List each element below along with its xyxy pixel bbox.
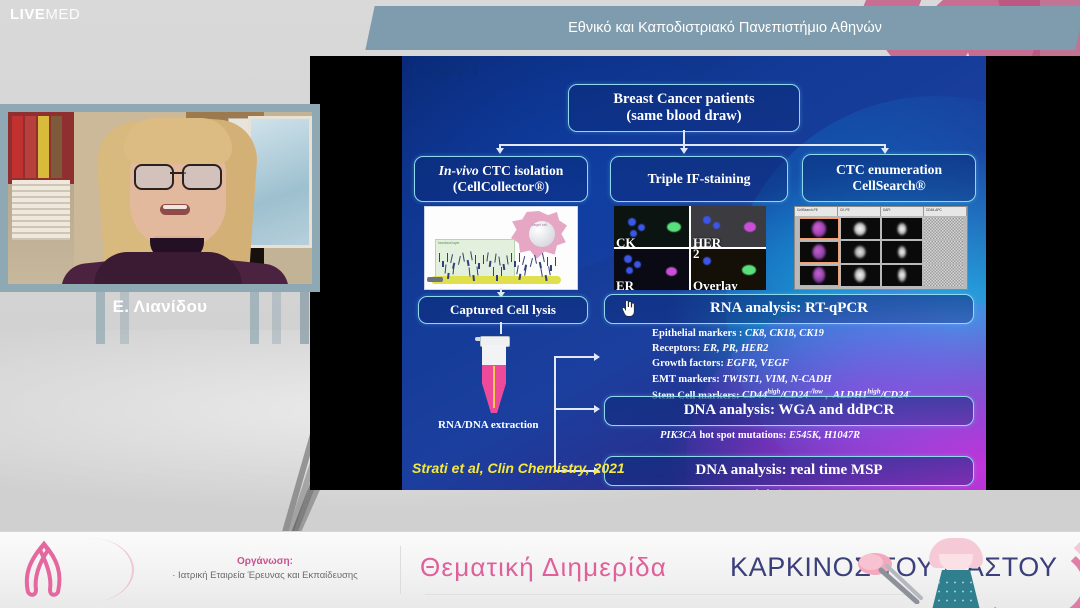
gallery-col-4: CD45-APC	[924, 207, 967, 216]
connector-lysis-tube	[500, 322, 502, 334]
presentation-slide: Figure 1 Breast Cancer patients (same bl…	[402, 56, 986, 490]
book	[51, 116, 62, 178]
hair-fringe	[124, 118, 232, 164]
tube-streak	[493, 366, 495, 408]
antibody-icon	[475, 255, 484, 264]
if-label-er: ER	[616, 279, 634, 290]
organizer-block: Οργάνωση: · Ιατρική Εταιρεία Έρευνας και…	[140, 554, 390, 583]
antibody-icon	[469, 267, 479, 277]
slide-viewport[interactable]: Figure 1 Breast Cancer patients (same bl…	[310, 56, 1080, 490]
dna-mutations: E545K, H1047R	[789, 430, 860, 441]
if-quadrant-her2: HER	[691, 206, 766, 247]
box-line-1-rest: CTC isolation	[479, 163, 564, 178]
dna-methylation-gene: ESR1	[799, 489, 824, 490]
illustration-caption-matrix: functional layer	[438, 241, 459, 245]
antibody-icon	[450, 254, 461, 265]
gallery-cell	[882, 241, 922, 262]
if-quadrant-ck: CK	[614, 206, 689, 247]
wire-tip	[427, 277, 443, 282]
gallery-cell	[924, 241, 964, 262]
connector-to-rna	[554, 356, 596, 358]
antibody-icon	[439, 253, 448, 262]
livemed-logo: LIVEMED	[10, 6, 80, 23]
connector-bus	[499, 144, 885, 146]
arrowhead-dna1	[594, 405, 600, 413]
if-staining-panel: CK HER ER 2	[614, 206, 766, 290]
antibody-icon	[534, 253, 545, 264]
illustration-caption-target: target cell	[532, 223, 547, 227]
dna-detail-1: PIK3CA hot spot mutations: E545K, H1047R	[660, 428, 860, 443]
box-emphasis: In-vivo	[439, 163, 479, 178]
gallery-header-row: CellSearch-PE CK-PE DAPI CD45-APC	[795, 207, 967, 216]
rna-detail-label: Growth factors:	[652, 358, 726, 369]
lens-left	[134, 164, 174, 190]
if-label-overlay: Overlay	[693, 279, 738, 290]
box-rna-label: RNA analysis: RT-qPCR	[710, 300, 868, 318]
rna-details: Epithelial markers : CK8, CK18, CK19 Rec…	[652, 326, 911, 404]
rna-detail-row: Growth factors: EGFR, VEGF	[652, 356, 911, 371]
antibody-icon	[547, 257, 556, 266]
rna-detail-row: Epithelial markers : CK8, CK18, CK19	[652, 326, 911, 341]
book	[25, 116, 36, 178]
eppendorf-tube-icon	[478, 336, 510, 416]
logo-live: LIVE	[10, 6, 45, 23]
antibody-icon	[516, 265, 526, 275]
antibody-icon	[493, 267, 502, 276]
box-line-2: (CellCollector®)	[453, 179, 549, 195]
banner-title-pink: Θεματική Διημερίδα	[420, 552, 667, 583]
logo-med: MED	[45, 6, 80, 23]
gallery-col-2: CK-PE	[838, 207, 881, 216]
dna-detail-2: DNA methylation: ESR1	[714, 487, 824, 490]
makeup-brush-icon	[855, 552, 925, 604]
dna-detail-text: hot spot mutations:	[697, 430, 789, 441]
connector-to-dna1	[554, 408, 596, 410]
if-quadrant-er: ER	[614, 249, 689, 290]
webcam-video[interactable]	[8, 112, 312, 284]
gallery-grid	[799, 218, 963, 286]
antibody-icon	[445, 265, 455, 275]
if-quadrant-overlay: 2 Overlay	[691, 249, 766, 290]
antibody-icon	[462, 251, 472, 261]
if-label-2: 2	[693, 249, 700, 260]
rna-dna-extraction-label: RNA/DNA extraction	[438, 418, 539, 434]
rna-detail-value: EGFR, VEGF	[726, 358, 788, 369]
hand-pointer-icon	[621, 300, 636, 317]
gallery-cell	[841, 218, 881, 239]
header-title: Εθνικό και Καποδιστριακό Πανεπιστήμιο Αθ…	[380, 6, 1070, 50]
antibody-icon	[540, 266, 550, 276]
slide-citation: Strati et al, Clin Chemistry, 2021	[412, 460, 625, 476]
box-line-1: In-vivo CTC isolation	[439, 163, 564, 179]
antibody-icon	[522, 256, 533, 267]
gallery-cell	[841, 241, 881, 262]
gallery-cell	[799, 218, 839, 239]
book	[12, 116, 23, 178]
box-dna-real-time-msp: DNA analysis: real time MSP	[604, 456, 974, 486]
book	[38, 116, 49, 178]
cellcollector-illustration: target cell functional layer	[424, 206, 578, 290]
banner-divider	[400, 546, 401, 594]
banner-underline	[425, 594, 910, 595]
box-rna-analysis: RNA analysis: RT-qPCR	[604, 294, 974, 324]
if-label-ck: CK	[616, 236, 636, 247]
woman-silhouette-icon	[62, 538, 134, 602]
mouth	[160, 204, 190, 215]
gallery-cell	[924, 218, 964, 239]
rna-detail-label: Epithelial markers :	[652, 328, 745, 339]
box-line-2: (same blood draw)	[626, 108, 741, 125]
figure-label: Figure 1	[412, 60, 480, 82]
rna-detail-value: ER, PR, HER2	[703, 343, 768, 354]
box-dna-wga-ddpcr: DNA analysis: WGA and ddPCR	[604, 396, 974, 426]
rna-detail-label: EMT markers:	[652, 374, 722, 385]
box-captured-cell-lysis: Captured Cell lysis	[418, 296, 588, 324]
clothing	[94, 252, 242, 284]
lens-right	[182, 164, 222, 190]
gallery-cell	[799, 265, 839, 286]
box-breast-cancer-patients: Breast Cancer patients (same blood draw)	[568, 84, 800, 132]
dna-gene-name: PIK3CA	[660, 430, 697, 441]
arrowhead-mid	[680, 148, 688, 154]
antibody-icon	[498, 255, 508, 265]
gallery-cell	[882, 218, 922, 239]
gallery-col-1: CellSearch-PE	[795, 207, 838, 216]
rna-detail-value: TWIST1, VIM, N-CADH	[722, 374, 831, 385]
gallery-cell	[799, 241, 839, 262]
box-triple-if-staining: Triple IF-staining	[610, 156, 788, 202]
eyeglasses	[134, 164, 222, 186]
event-banner: Οργάνωση: · Ιατρική Εταιρεία Έρευνας και…	[0, 531, 1080, 608]
box-line-1: Triple IF-staining	[648, 171, 751, 187]
rna-detail-label: Receptors:	[652, 343, 703, 354]
gallery-cell	[924, 265, 964, 286]
rna-detail-row: Receptors: ER, PR, HER2	[652, 341, 911, 356]
rna-detail-value: CK8, CK18, CK19	[745, 328, 824, 339]
arrowhead-rna	[594, 353, 600, 361]
screen: LIVEMED Εθνικό και Καποδιστριακό Πανεπισ…	[0, 0, 1080, 608]
organizer-line: · Ιατρική Εταιρεία Έρευνας και Εκπαίδευσ…	[140, 569, 390, 583]
gallery-cell	[882, 265, 922, 286]
connector-vertical-bus	[554, 356, 556, 472]
box-line-1: CTC enumeration	[836, 162, 942, 178]
rna-detail-row: EMT markers: TWIST1, VIM, N-CADH	[652, 372, 911, 387]
speaker-name-label: Ε. Λιανίδου	[0, 290, 320, 324]
box-line-2: CellSearch®	[852, 178, 925, 194]
box-line-1: Breast Cancer patients	[613, 91, 754, 108]
antibody-icon	[511, 253, 520, 262]
arrowhead-left	[496, 148, 504, 154]
cellsearch-gallery: CellSearch-PE CK-PE DAPI CD45-APC	[794, 206, 968, 290]
wall-poster	[248, 116, 312, 248]
stacked-papers	[12, 180, 70, 240]
gallery-col-3: DAPI	[881, 207, 924, 216]
gallery-cell	[841, 265, 881, 286]
dna-detail-text: DNA methylation:	[714, 489, 799, 490]
organizer-title: Οργάνωση:	[140, 554, 390, 569]
box-ctc-enumeration: CTC enumeration CellSearch®	[802, 154, 976, 202]
connector-stem	[683, 130, 685, 144]
box-invivo-ctc-isolation: In-vivo CTC isolation (CellCollector®)	[414, 156, 588, 202]
antibody-icon	[486, 252, 496, 262]
if-label-her: HER	[693, 236, 721, 247]
